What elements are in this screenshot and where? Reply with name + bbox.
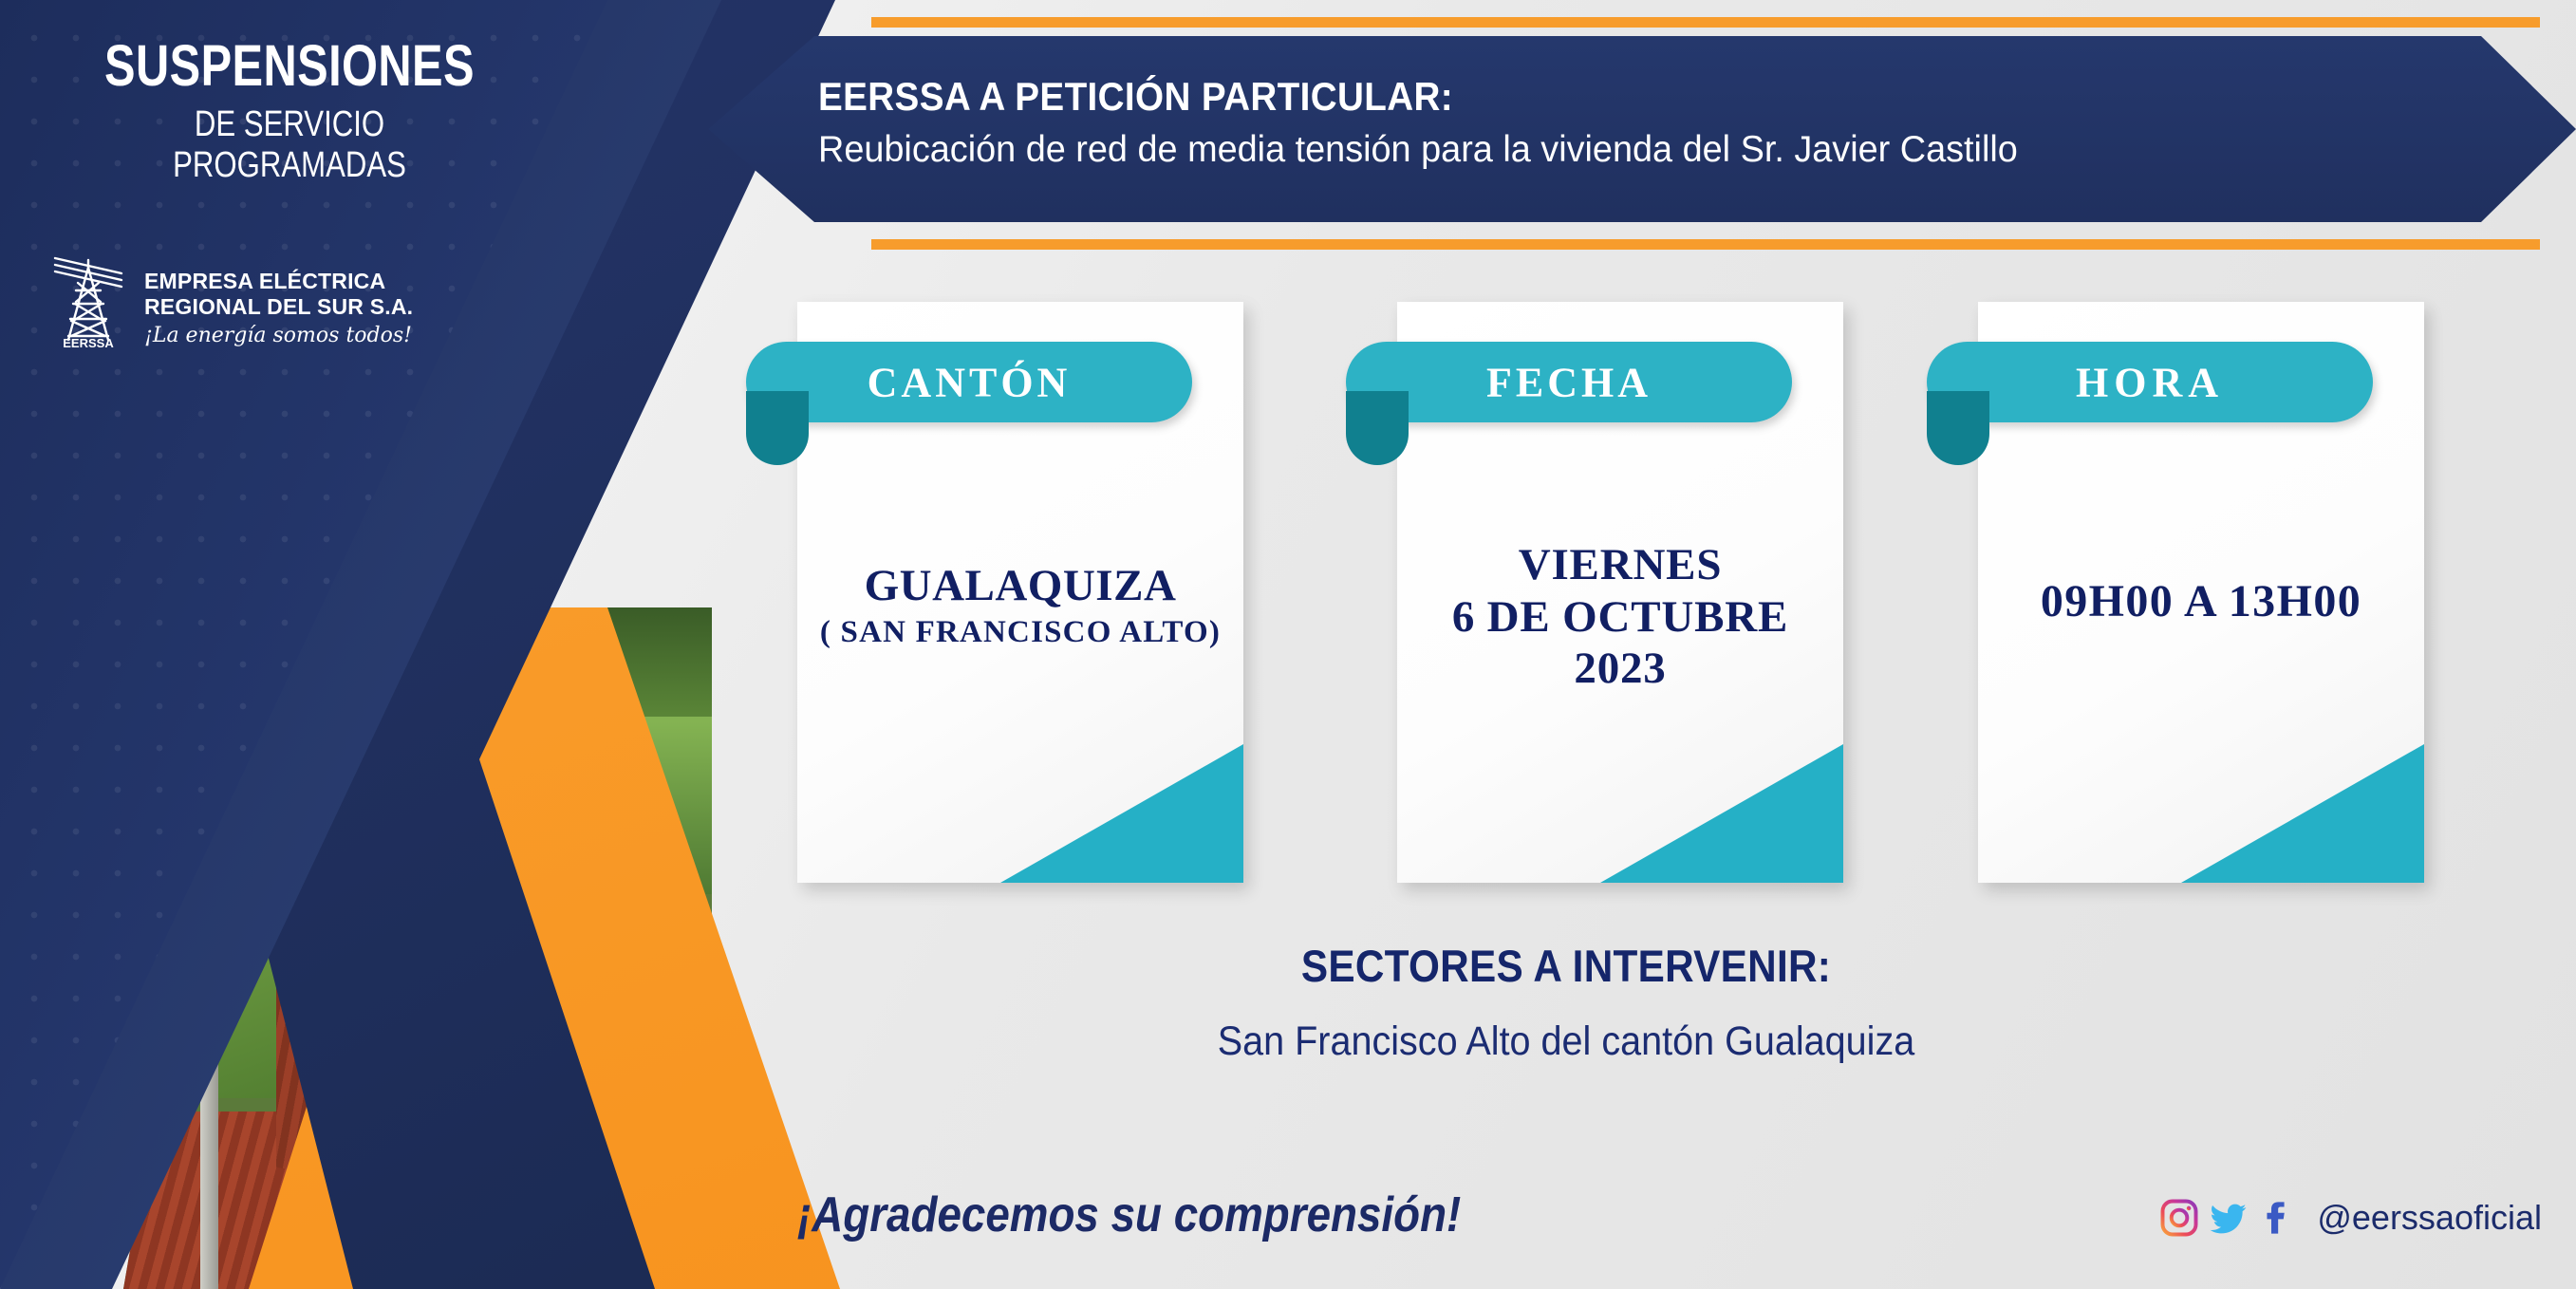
card-canton-value-sub: ( SAN FRANCISCO ALTO) [797, 614, 1243, 650]
social-bar: @eerssaoficial [2159, 1198, 2542, 1238]
logo-mark-text: EERSSA [63, 336, 114, 349]
poster-canvas: SUSPENSIONES DE SERVICIO PROGRAMADAS [0, 0, 2576, 1289]
logo-name-line2: REGIONAL DEL SUR S.A. [144, 294, 413, 320]
info-cards-group: GUALAQUIZA ( SAN FRANCISCO ALTO) VIERNES… [0, 0, 2576, 1289]
thanks-message: ¡Agradecemos su comprensión! [797, 1186, 1461, 1243]
card-corner-accent [1600, 744, 1843, 883]
card-corner-accent [1000, 744, 1243, 883]
sectors-heading: SECTORES A INTERVENIR: [1079, 940, 2053, 992]
card-label-fecha: FECHA [1346, 342, 1792, 422]
eerssa-logo: EERSSA EMPRESA ELÉCTRICA REGIONAL DEL SU… [47, 245, 413, 349]
card-corner-accent [2181, 744, 2424, 883]
transmission-tower-icon: EERSSA [47, 245, 129, 349]
card-label-hora: HORA [1927, 342, 2373, 422]
card-canton-value-main: GUALAQUIZA [865, 561, 1177, 610]
logo-wordmark: EMPRESA ELÉCTRICA REGIONAL DEL SUR S.A. … [144, 269, 413, 349]
card-label-canton: CANTÓN [746, 342, 1192, 422]
poster-title-line2: DE SERVICIO PROGRAMADAS [84, 104, 496, 186]
card-hora-value: 09H00 A 13H00 [1953, 575, 2449, 628]
card-fecha-value: VIERNES 6 DE OCTUBRE 2023 [1397, 539, 1843, 695]
instagram-icon[interactable] [2159, 1198, 2199, 1238]
facebook-icon[interactable] [2258, 1198, 2298, 1238]
social-handle[interactable]: @eerssaoficial [2317, 1198, 2542, 1238]
sectors-detail: San Francisco Alto del cantón Gualaquiza [1069, 1018, 2064, 1065]
sectors-block: SECTORES A INTERVENIR: San Francisco Alt… [1025, 940, 2107, 1065]
poster-title: SUSPENSIONES DE SERVICIO PROGRAMADAS [38, 32, 541, 186]
card-label-hora-text: HORA [1927, 358, 2373, 406]
card-label-fecha-text: FECHA [1346, 358, 1792, 406]
logo-slogan: ¡La energía somos todos! [144, 324, 413, 347]
logo-name-line1: EMPRESA ELÉCTRICA [144, 269, 413, 294]
card-label-canton-text: CANTÓN [746, 358, 1192, 406]
card-canton-value: GUALAQUIZA ( SAN FRANCISCO ALTO) [797, 560, 1243, 650]
poster-title-line1: SUSPENSIONES [88, 32, 491, 99]
twitter-icon[interactable] [2209, 1198, 2249, 1238]
